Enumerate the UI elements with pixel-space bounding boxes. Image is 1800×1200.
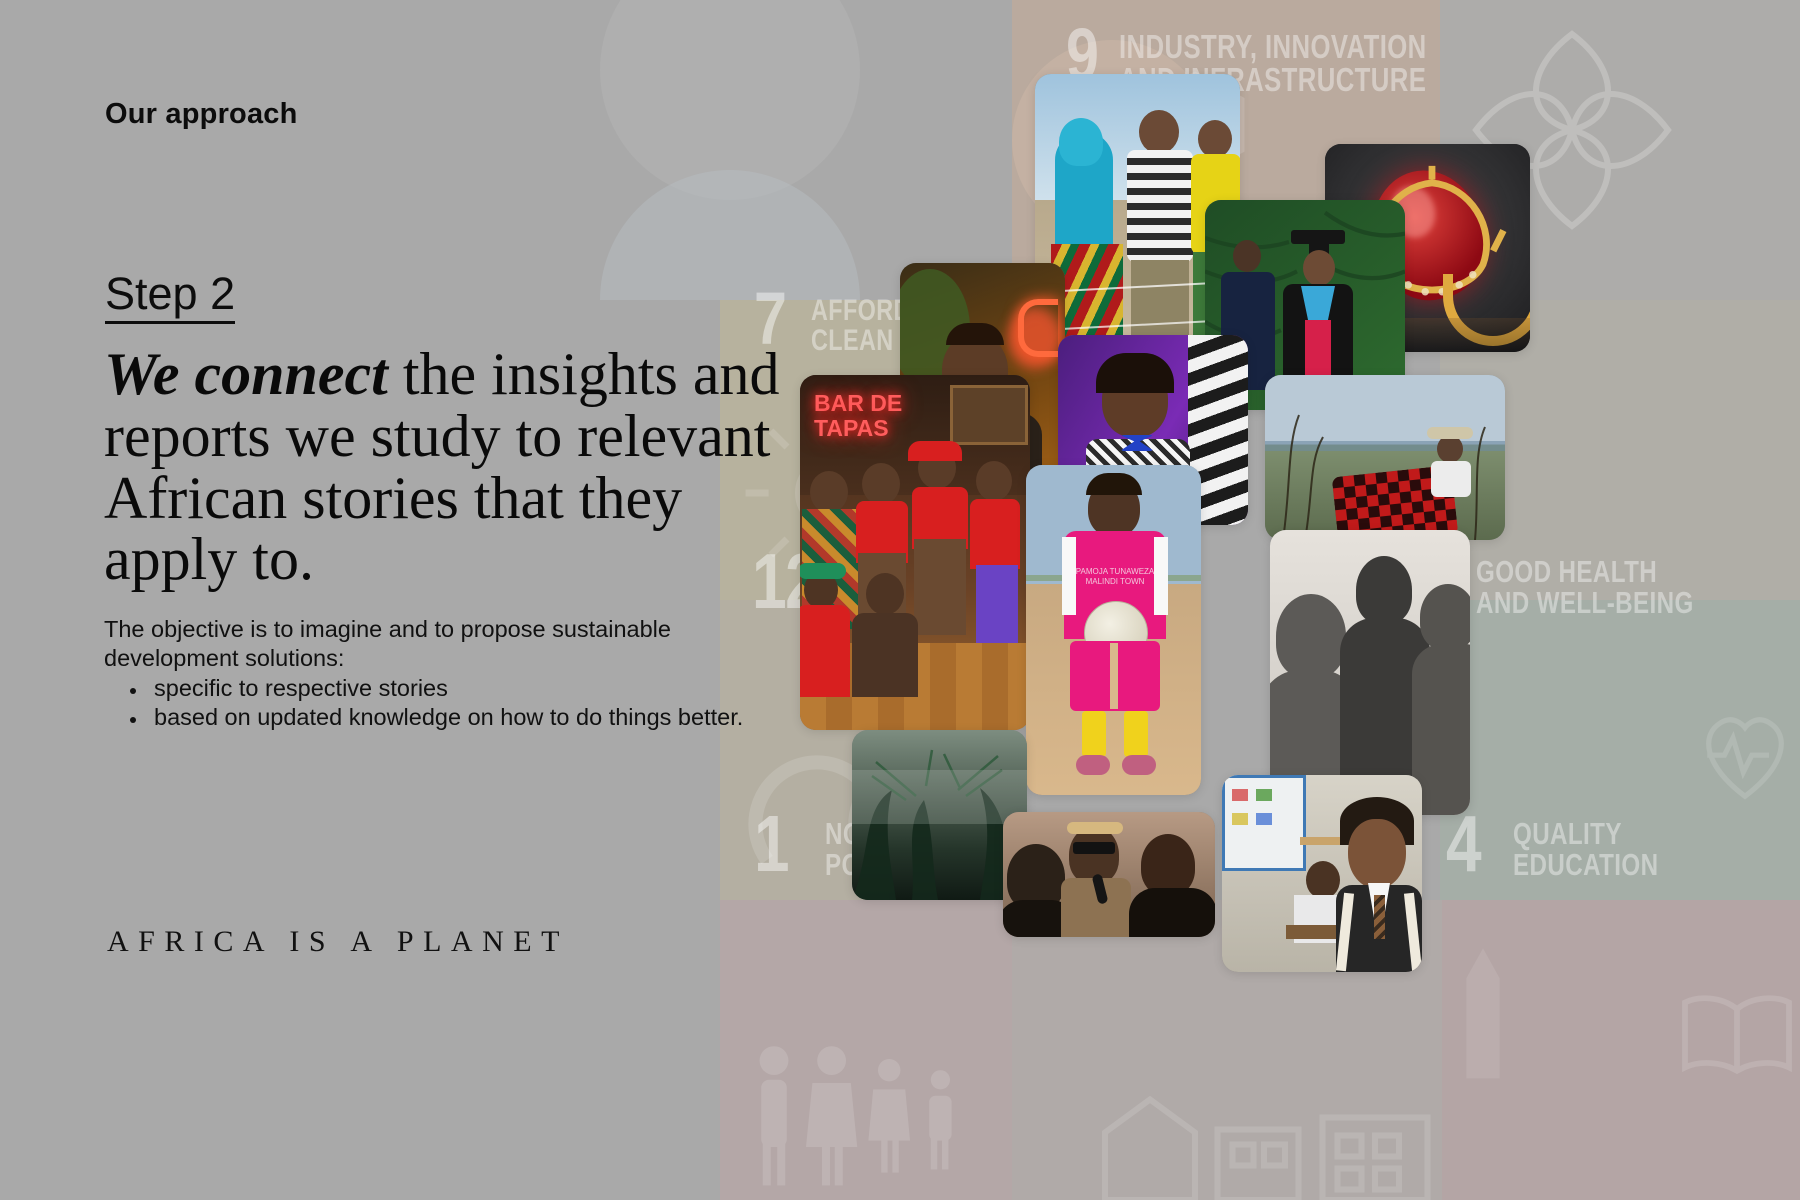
body-copy: The objective is to imagine and to propo… [104, 615, 804, 732]
footballer-photo: PAMOJA TUNAWEZAMALINDI TOWN [1026, 465, 1201, 795]
list-item: based on updated knowledge on how to do … [148, 703, 804, 732]
body-intro: The objective is to imagine and to propo… [104, 615, 804, 672]
schoolgirl-classroom-photo [1222, 775, 1422, 972]
red-checked-cloth-photo [1265, 375, 1505, 540]
brand-wordmark: AFRICA IS A PLANET [107, 925, 569, 959]
panel-discussion-photo [1003, 812, 1215, 937]
bar-de-tapas-team-photo: BAR DETAPAS [800, 375, 1030, 730]
headline-emphasis: We connect [104, 341, 388, 407]
slide-canvas: 9 INDUSTRY, INNOVATION AND INFRASTRUCTUR… [0, 0, 1800, 1200]
body-bullet-list: specific to respective stories based on … [104, 674, 804, 731]
neon-sign-text: BAR DETAPAS [814, 391, 902, 442]
audience-silhouette-photo [1270, 530, 1470, 815]
photo-collage: w o BAR DETAPA [0, 0, 1800, 1200]
jersey-text: PAMOJA TUNAWEZAMALINDI TOWN [1070, 567, 1160, 587]
page-headline: We connect the insights and reports we s… [104, 344, 794, 591]
page-eyebrow: Our approach [105, 98, 298, 131]
list-item: specific to respective stories [148, 674, 804, 703]
rainforest-photo [852, 730, 1027, 900]
step-label: Step 2 [105, 270, 235, 324]
step-label-wrap: Step 2 [105, 270, 235, 324]
